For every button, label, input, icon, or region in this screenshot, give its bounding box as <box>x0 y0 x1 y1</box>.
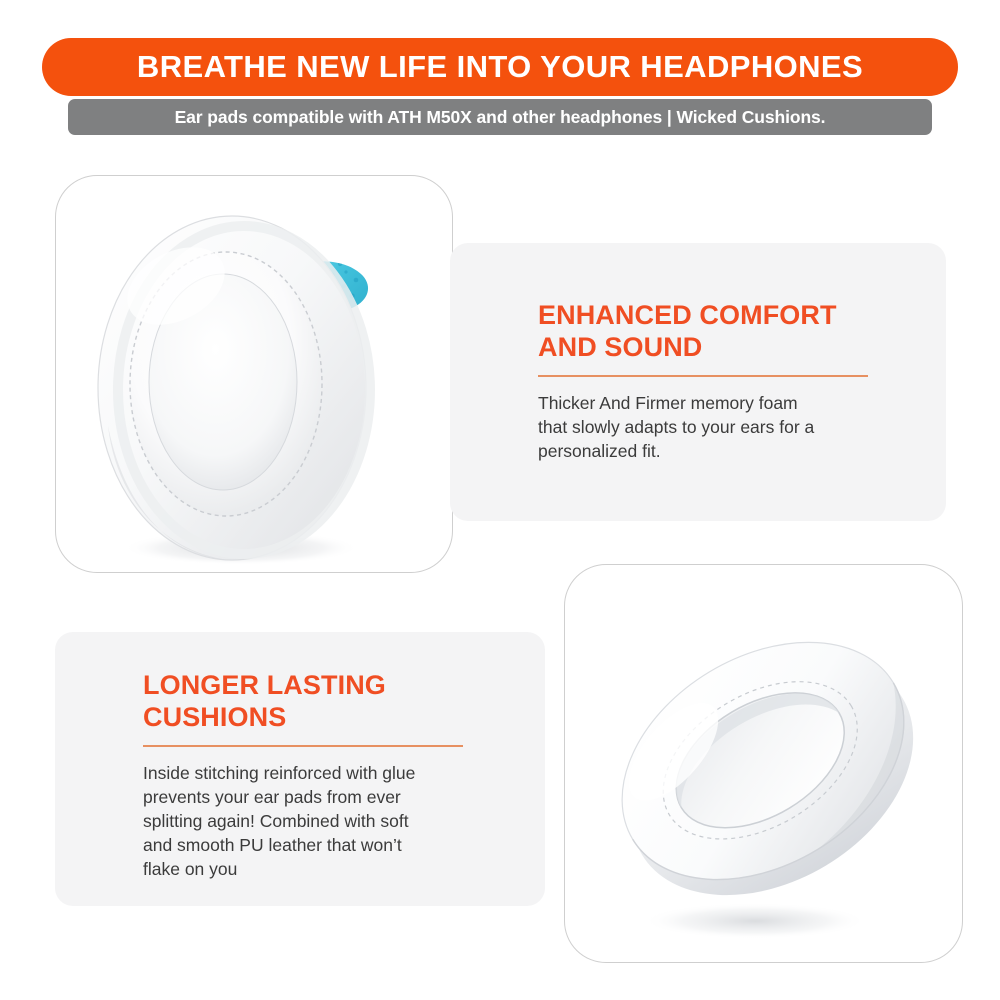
feature-card-longer-lasting: LONGER LASTING CUSHIONS Inside stitching… <box>55 632 545 906</box>
product-photo-card-angled <box>564 564 963 963</box>
header-subtitle-bar: Ear pads compatible with ATH M50X and ot… <box>68 99 932 135</box>
feature-content: LONGER LASTING CUSHIONS Inside stitching… <box>143 670 463 881</box>
earpad-body <box>579 594 956 944</box>
earpad-angled-illustration <box>565 565 962 962</box>
feature-description: Thicker And Firmer memory foam that slow… <box>538 391 868 463</box>
feature-divider <box>538 375 868 377</box>
feature-divider <box>143 745 463 747</box>
header-banner: BREATHE NEW LIFE INTO YOUR HEADPHONES <box>42 38 958 96</box>
feature-card-enhanced-comfort: ENHANCED COMFORT AND SOUND Thicker And F… <box>450 243 946 521</box>
feature-description: Inside stitching reinforced with glue pr… <box>143 761 463 882</box>
earpad-body <box>98 216 370 560</box>
product-photo-card-front <box>55 175 453 573</box>
feature-heading: ENHANCED COMFORT AND SOUND <box>538 300 868 364</box>
earpad-front-illustration <box>56 176 452 572</box>
page-title: BREATHE NEW LIFE INTO YOUR HEADPHONES <box>137 49 863 85</box>
page-subtitle: Ear pads compatible with ATH M50X and ot… <box>175 107 826 128</box>
feature-heading: LONGER LASTING CUSHIONS <box>143 670 463 734</box>
feature-content: ENHANCED COMFORT AND SOUND Thicker And F… <box>538 300 868 463</box>
